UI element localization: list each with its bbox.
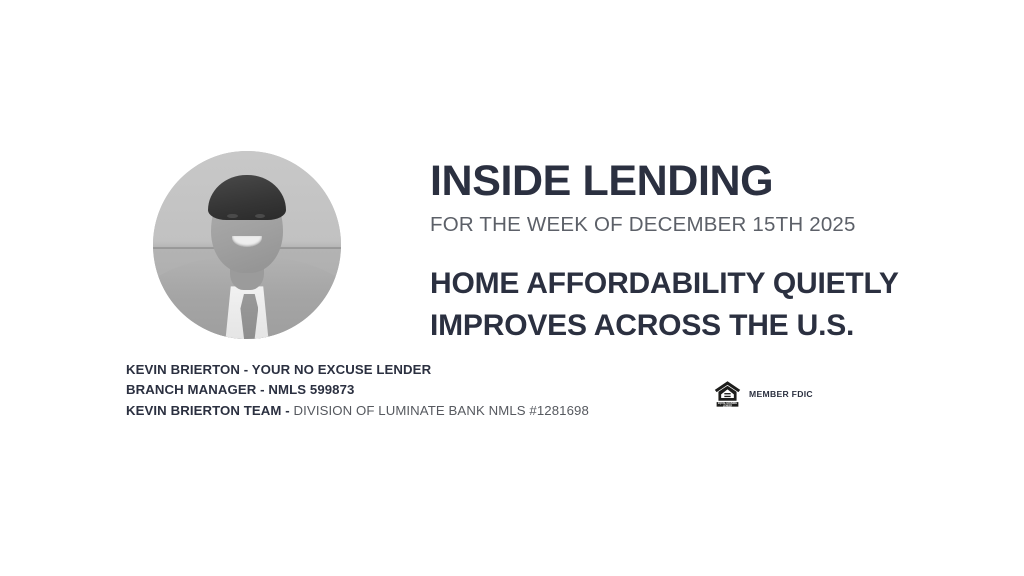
equal-housing-label-bottom: LENDER	[723, 405, 733, 407]
contact-line-team: KEVIN BRIERTON TEAM - DIVISION OF LUMINA…	[126, 401, 589, 421]
page-title: INSIDE LENDING	[430, 160, 990, 203]
contact-name-text: KEVIN BRIERTON - YOUR NO EXCUSE LENDER	[126, 362, 431, 377]
contact-title-text: BRANCH MANAGER - NMLS 599873	[126, 382, 355, 397]
compliance-block: EQUAL HOUSING LENDER MEMBER FDIC	[713, 379, 813, 408]
contact-line-name: KEVIN BRIERTON - YOUR NO EXCUSE LENDER	[126, 360, 589, 380]
equal-housing-lender-icon: EQUAL HOUSING LENDER	[713, 379, 742, 408]
issue-date-subtitle: FOR THE WEEK OF DECEMBER 15TH 2025	[430, 215, 990, 236]
story-headline-line-1: HOME AFFORDABILITY QUIETLY	[430, 263, 990, 306]
agent-portrait-avatar	[148, 146, 346, 344]
inside-lending-slide: INSIDE LENDING FOR THE WEEK OF DECEMBER …	[0, 0, 1024, 576]
contact-team-text: KEVIN BRIERTON TEAM -	[126, 403, 290, 418]
contact-division-text: DIVISION OF LUMINATE BANK NMLS #1281698	[294, 403, 589, 418]
member-fdic-label: MEMBER FDIC	[749, 389, 813, 399]
portrait-image	[153, 151, 341, 339]
contact-line-title: BRANCH MANAGER - NMLS 599873	[126, 380, 589, 400]
contact-credentials-block: KEVIN BRIERTON - YOUR NO EXCUSE LENDER B…	[126, 360, 589, 421]
headline-block: INSIDE LENDING FOR THE WEEK OF DECEMBER …	[430, 160, 990, 348]
story-headline: HOME AFFORDABILITY QUIETLY IMPROVES ACRO…	[430, 263, 990, 348]
story-headline-line-2: IMPROVES ACROSS THE U.S.	[430, 305, 990, 348]
